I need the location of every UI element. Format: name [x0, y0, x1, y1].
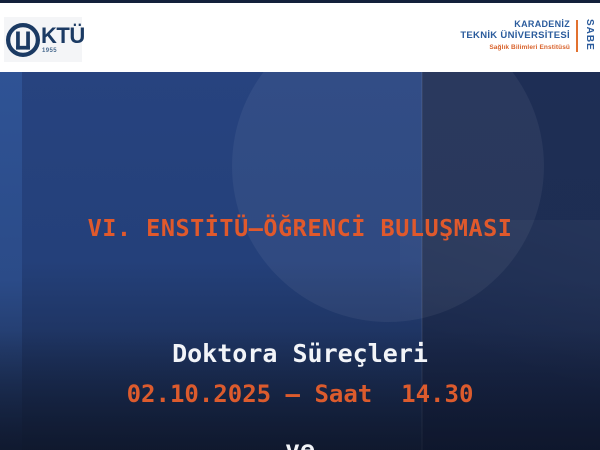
orange-divider-rule: [576, 20, 578, 52]
ktu-wordmark-group: KTÜ 1955: [41, 25, 85, 54]
ktu-logo: KTÜ 1955: [4, 17, 82, 62]
ktu-founding-year: 1955: [42, 48, 57, 54]
slide-header: KTÜ 1955 KARADENİZ TEKNİK ÜNİVERSİTESİ S…: [0, 3, 600, 72]
institute-name: Sağlık Bilimleri Enstitüsü: [460, 43, 570, 53]
event-title: VI. ENSTİTÜ–ÖĞRENCİ BULUŞMASI: [0, 214, 600, 242]
university-name-group: KARADENİZ TEKNİK ÜNİVERSİTESİ Sağlık Bil…: [460, 19, 576, 53]
ktu-wordmark: KTÜ: [41, 25, 85, 47]
event-subtitle: Doktora Süreçleri ve Oryantasyon Program…: [0, 274, 600, 450]
university-identity: KARADENİZ TEKNİK ÜNİVERSİTESİ Sağlık Bil…: [460, 19, 594, 53]
university-name-line2: TEKNİK ÜNİVERSİTESİ: [460, 30, 570, 42]
event-datetime: 02.10.2025 – Saat 14.30: [0, 380, 600, 408]
slide-body: VI. ENSTİTÜ–ÖĞRENCİ BULUŞMASI Doktora Sü…: [0, 72, 600, 450]
event-subtitle-line-1: Doktora Süreçleri: [0, 338, 600, 370]
slide-content: VI. ENSTİTÜ–ÖĞRENCİ BULUŞMASI Doktora Sü…: [0, 72, 600, 450]
event-subtitle-line-2: ve: [0, 434, 600, 450]
university-name-line1: KARADENİZ: [460, 19, 570, 30]
sabe-vertical-label: SABE: [584, 19, 594, 53]
ktu-monogram-icon: [6, 23, 40, 57]
presentation-slide: KTÜ 1955 KARADENİZ TEKNİK ÜNİVERSİTESİ S…: [0, 0, 600, 450]
